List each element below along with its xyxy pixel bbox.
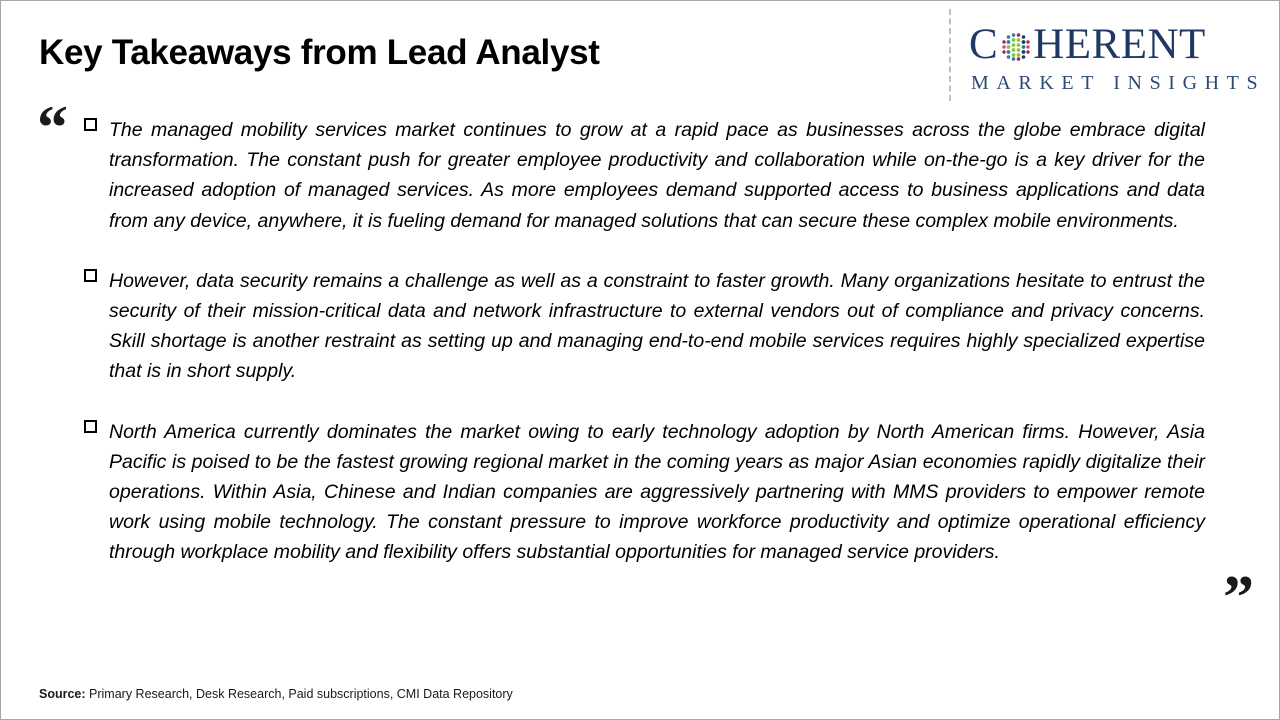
slide-header: Key Takeaways from Lead Analyst C — [1, 1, 1280, 105]
logo-letter-c: C — [969, 22, 998, 68]
logo-letters-herent: HERENT — [1033, 22, 1206, 68]
closing-quote-icon: ” — [1223, 567, 1252, 629]
takeaway-item-3: North America currently dominates the ma… — [83, 417, 1205, 568]
takeaway-item-2: However, data security remains a challen… — [83, 266, 1205, 387]
page-title: Key Takeaways from Lead Analyst — [39, 31, 600, 75]
header-divider — [949, 9, 951, 101]
takeaway-item-1: The managed mobility services market con… — [83, 115, 1205, 236]
takeaways-list: The managed mobility services market con… — [83, 115, 1205, 568]
hollow-square-bullet-icon — [84, 118, 97, 131]
hollow-square-bullet-icon — [84, 269, 97, 282]
source-label: Source: — [39, 687, 86, 701]
slide-canvas: Key Takeaways from Lead Analyst C — [0, 0, 1280, 720]
hollow-square-bullet-icon — [84, 420, 97, 433]
takeaway-text-2: However, data security remains a challen… — [109, 266, 1205, 387]
logo-wordmark: C — [969, 21, 1261, 69]
takeaway-text-1: The managed mobility services market con… — [109, 115, 1205, 236]
company-logo: C — [969, 21, 1261, 97]
source-value: Primary Research, Desk Research, Paid su… — [89, 687, 513, 701]
opening-quote-icon: “ — [37, 97, 66, 159]
dotted-globe-icon — [998, 30, 1032, 64]
logo-subtitle: MARKET INSIGHTS — [971, 71, 1261, 95]
takeaway-text-3: North America currently dominates the ma… — [109, 417, 1205, 568]
source-footer: Source: Primary Research, Desk Research,… — [39, 685, 513, 703]
